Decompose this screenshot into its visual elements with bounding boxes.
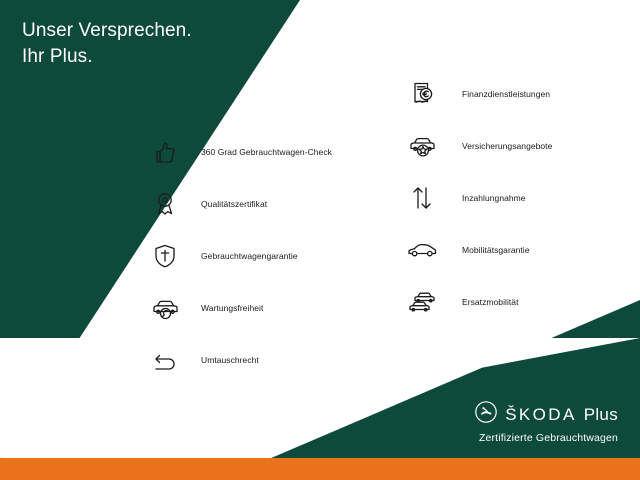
feature-item: Ersatzmobilität xyxy=(400,276,552,328)
feature-label: 360 Grad Gebrauchtwagen-Check xyxy=(187,147,332,157)
car-service-icon xyxy=(143,286,187,330)
brand-plus-label: Plus xyxy=(584,405,618,425)
page-title: Unser Versprechen. Ihr Plus. xyxy=(22,18,192,70)
brand-subline: Zertifizierte Gebrauchtwagen xyxy=(474,432,618,444)
brand-lockup: ŠKODA Plus Zertifizierte Gebrauchtwagen xyxy=(474,400,618,444)
feature-item: Wartungsfreiheit xyxy=(143,282,332,334)
feature-item: Umtauschrecht xyxy=(143,334,332,386)
slide-canvas: Unser Versprechen. Ihr Plus. 360 Grad Ge… xyxy=(0,0,640,480)
feature-label: Finanzdienstleistungen xyxy=(444,89,550,99)
feature-label: Mobilitätsgarantie xyxy=(444,245,530,255)
feature-label: Versicherungsangebote xyxy=(444,141,552,151)
headline-line-1: Unser Versprechen. xyxy=(22,18,192,44)
feature-item: Versicherungsangebote xyxy=(400,120,552,172)
car-side-icon xyxy=(400,228,444,272)
feature-list-left: 360 Grad Gebrauchtwagen-Check Qualitätsz… xyxy=(143,126,332,386)
arrows-up-down-icon xyxy=(400,176,444,220)
document-euro-icon xyxy=(400,72,444,116)
feature-item: 360 Grad Gebrauchtwagen-Check xyxy=(143,126,332,178)
skoda-winged-arrow-logo-icon xyxy=(474,400,498,429)
car-star-icon xyxy=(400,124,444,168)
quality-seal-icon xyxy=(143,182,187,226)
headline-line-2: Ihr Plus. xyxy=(22,44,192,70)
return-arrow-icon xyxy=(143,338,187,382)
shield-icon xyxy=(143,234,187,278)
thumbs-up-icon xyxy=(143,130,187,174)
feature-item: Finanzdienstleistungen xyxy=(400,68,552,120)
feature-label: Umtauschrecht xyxy=(187,355,259,365)
two-cars-icon xyxy=(400,280,444,324)
feature-list-right: Finanzdienstleistungen Versicherungsange… xyxy=(400,68,552,328)
feature-label: Qualitätszertifikat xyxy=(187,199,267,209)
brand-primary-row: ŠKODA Plus xyxy=(474,400,618,429)
feature-label: Wartungsfreiheit xyxy=(187,303,263,313)
feature-item: Inzahlungnahme xyxy=(400,172,552,224)
feature-item: Qualitätszertifikat xyxy=(143,178,332,230)
feature-item: Gebrauchtwagengarantie xyxy=(143,230,332,282)
feature-item: Mobilitätsgarantie xyxy=(400,224,552,276)
brand-wordmark: ŠKODA xyxy=(505,405,577,425)
feature-label: Inzahlungnahme xyxy=(444,193,526,203)
feature-label: Ersatzmobilität xyxy=(444,297,519,307)
feature-label: Gebrauchtwagengarantie xyxy=(187,251,298,261)
background-strip-orange xyxy=(0,458,640,480)
